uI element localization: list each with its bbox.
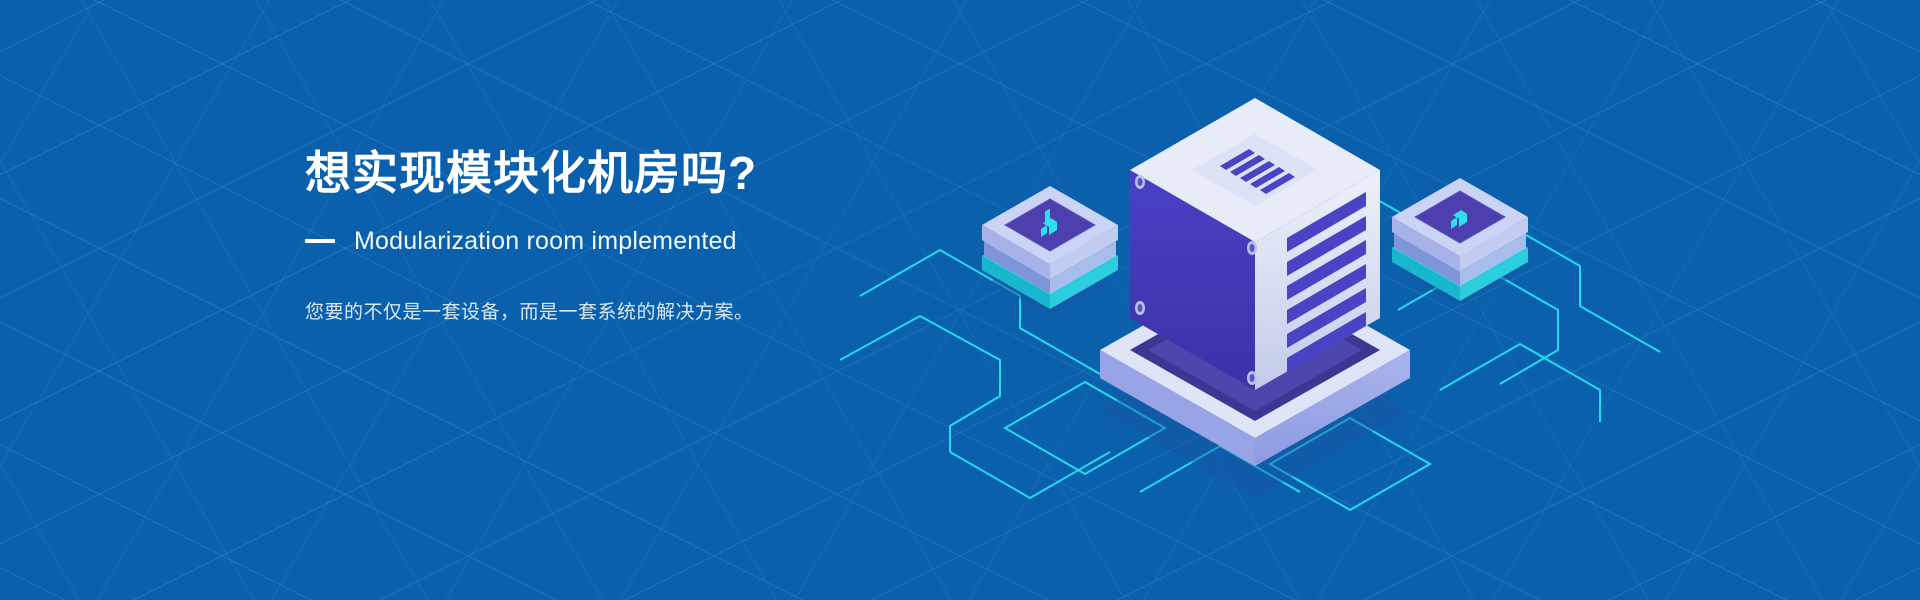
hero-banner: 想实现模块化机房吗? Modularization room implement… (0, 0, 1920, 600)
chip-block-left (982, 186, 1118, 309)
chip-block-right (1392, 178, 1528, 301)
banner-subtitle: Modularization room implemented (354, 226, 737, 256)
dash-accent-icon (305, 239, 335, 243)
isometric-server-room-illustration (800, 60, 1700, 560)
